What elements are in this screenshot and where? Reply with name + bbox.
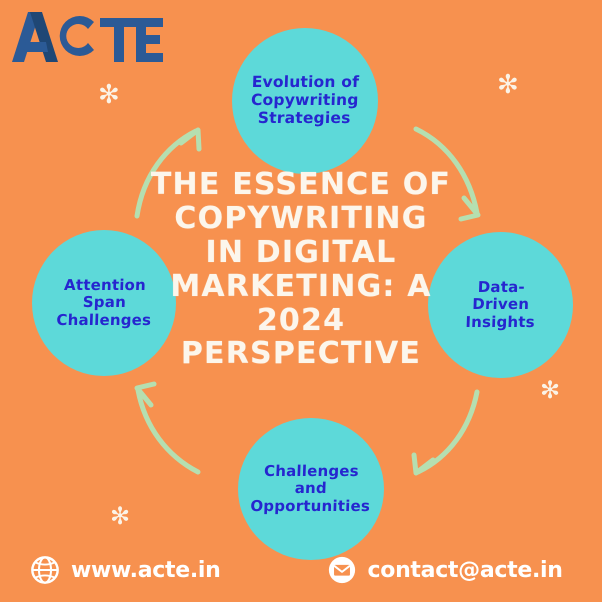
cycle-node-label: Attention Span Challenges	[50, 277, 159, 329]
arrow-bottom-to-left	[137, 384, 198, 472]
footer-contact-bar: www.acte.in contact@acte.in	[0, 538, 602, 602]
cycle-node-label: Data- Driven Insights	[459, 279, 542, 331]
page-title: THE ESSENCE OF COPYWRITING IN DIGITAL MA…	[148, 168, 454, 371]
website-text: www.acte.in	[71, 558, 221, 583]
cycle-node-label: Evolution of Copywriting Strategies	[244, 74, 365, 128]
website-contact[interactable]: www.acte.in	[30, 555, 221, 585]
email-text: contact@acte.in	[368, 558, 563, 583]
infographic-canvas: Evolution of Copywriting Strategies Data…	[0, 0, 602, 602]
email-contact[interactable]: contact@acte.in	[327, 555, 563, 585]
globe-icon	[30, 555, 60, 585]
arrow-right-to-bottom	[414, 392, 477, 473]
flower-icon: ✻	[98, 82, 120, 108]
flower-icon: ✻	[110, 504, 130, 528]
acte-logo	[8, 8, 168, 70]
cycle-node-evolution[interactable]: Evolution of Copywriting Strategies	[232, 28, 378, 174]
flower-icon: ✻	[497, 72, 519, 98]
cycle-node-label: Challenges and Opportunities	[244, 463, 377, 515]
flower-icon: ✻	[540, 378, 560, 402]
envelope-icon	[327, 555, 357, 585]
